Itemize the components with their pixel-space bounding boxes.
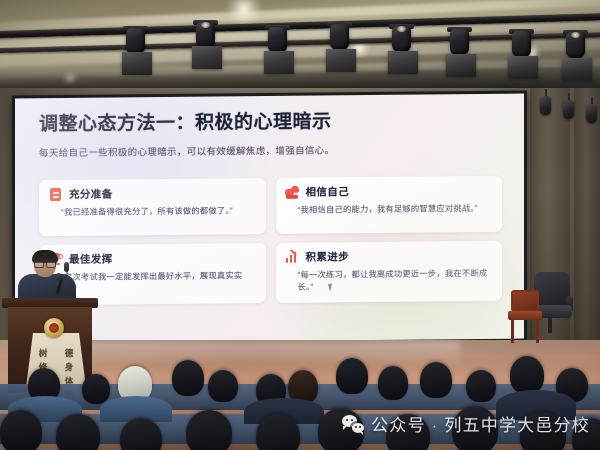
audience-head <box>256 414 300 450</box>
affirmation-card-grid: 充分准备 “我已经准备得很充分了，所有该做的都做了。” 相信自己 “我相信自己的… <box>39 176 502 305</box>
microphone-head <box>55 273 62 281</box>
audience-head <box>82 374 110 404</box>
slide-title: 调整心态方法一：积极的心理暗示 <box>39 110 502 136</box>
audience-head <box>378 366 408 400</box>
school-emblem <box>44 318 64 338</box>
audience-head <box>336 358 368 394</box>
wechat-icon <box>342 415 364 433</box>
lecture-hall-photo: 调整心态方法一：积极的心理暗示 每天给自己一些积极的心理暗示，可以有效缓解焦虑，… <box>0 0 600 450</box>
watermark-text: 公众号 · 列五中学大邑分校 <box>371 411 590 436</box>
audience-head <box>510 356 544 394</box>
eyeglasses <box>34 261 56 266</box>
card-quote: “我相信自己的能力，我有足够的智慧应对挑战。” <box>285 202 494 216</box>
card-title: 相信自己 <box>306 184 350 199</box>
audience-head <box>466 370 496 402</box>
audience-head <box>56 414 100 450</box>
card-quote: “每一次练习，都让我离成功更近一步，我在不断成长。” <box>285 267 494 294</box>
bar-chart-icon <box>285 250 300 265</box>
audience-head <box>186 410 232 450</box>
ceiling <box>0 0 600 92</box>
document-icon <box>48 187 63 202</box>
audience-head <box>420 362 452 398</box>
card-quote: “我已经准备得很充分了，所有该做的都做了。” <box>48 204 257 218</box>
card-title: 充分准备 <box>69 187 113 202</box>
audience-head <box>172 360 204 396</box>
wooden-chair <box>508 290 542 344</box>
card-title: 积累进步 <box>306 249 350 264</box>
wechat-watermark: 公众号 · 列五中学大邑分校 <box>342 411 590 436</box>
slide-subtitle: 每天给自己一些积极的心理暗示，可以有效缓解焦虑，增强自信心。 <box>39 141 502 159</box>
flexed-biceps-icon <box>285 185 300 200</box>
affirmation-card: 积累进步 “每一次练习，都让我离成功更近一步，我在不断成长。” <box>276 241 503 303</box>
affirmation-card: 充分准备 “我已经准备得很充分了，所有该做的都做了。” <box>39 178 266 236</box>
affirmation-card: 相信自己 “我相信自己的能力，我有足够的智慧应对挑战。” <box>276 176 503 234</box>
stage-chairs <box>508 272 580 346</box>
audience-head <box>0 410 42 450</box>
audience-head <box>208 370 238 402</box>
